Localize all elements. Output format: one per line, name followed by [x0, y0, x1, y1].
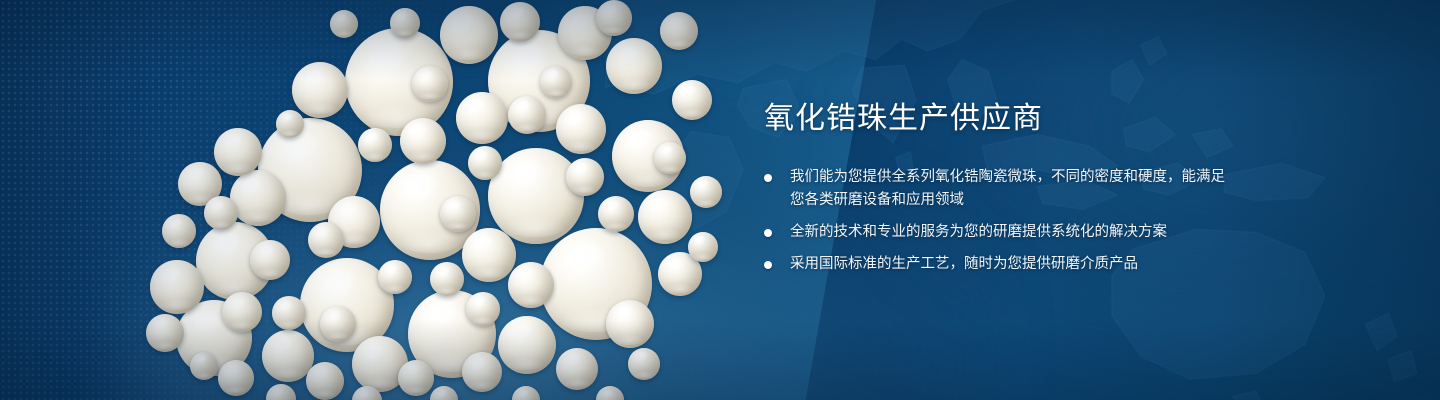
bullet-dot-icon	[764, 229, 772, 237]
banner-bullet-item: 采用国际标准的生产工艺，随时为您提供研磨介质产品	[764, 253, 1234, 276]
banner-bullet-text: 我们能为您提供全系列氧化锆陶瓷微珠，不同的密度和硬度，能满足您各类研磨设备和应用…	[790, 169, 1225, 208]
banner-bullet-text: 采用国际标准的生产工艺，随时为您提供研磨介质产品	[790, 256, 1138, 272]
hero-banner: 氧化锆珠生产供应商 我们能为您提供全系列氧化锆陶瓷微珠，不同的密度和硬度，能满足…	[0, 0, 1440, 400]
banner-bullet-text: 全新的技术和专业的服务为您的研磨提供系统化的解决方案	[790, 224, 1167, 240]
bullet-dot-icon	[764, 174, 772, 182]
bullet-dot-icon	[764, 261, 772, 269]
banner-bullet-item: 我们能为您提供全系列氧化锆陶瓷微珠，不同的密度和硬度，能满足您各类研磨设备和应用…	[764, 166, 1234, 212]
banner-bullet-item: 全新的技术和专业的服务为您的研磨提供系统化的解决方案	[764, 221, 1234, 244]
banner-headline: 氧化锆珠生产供应商	[764, 104, 1234, 134]
banner-copy: 氧化锆珠生产供应商 我们能为您提供全系列氧化锆陶瓷微珠，不同的密度和硬度，能满足…	[764, 104, 1234, 276]
banner-bullet-list: 我们能为您提供全系列氧化锆陶瓷微珠，不同的密度和硬度，能满足您各类研磨设备和应用…	[764, 166, 1234, 276]
